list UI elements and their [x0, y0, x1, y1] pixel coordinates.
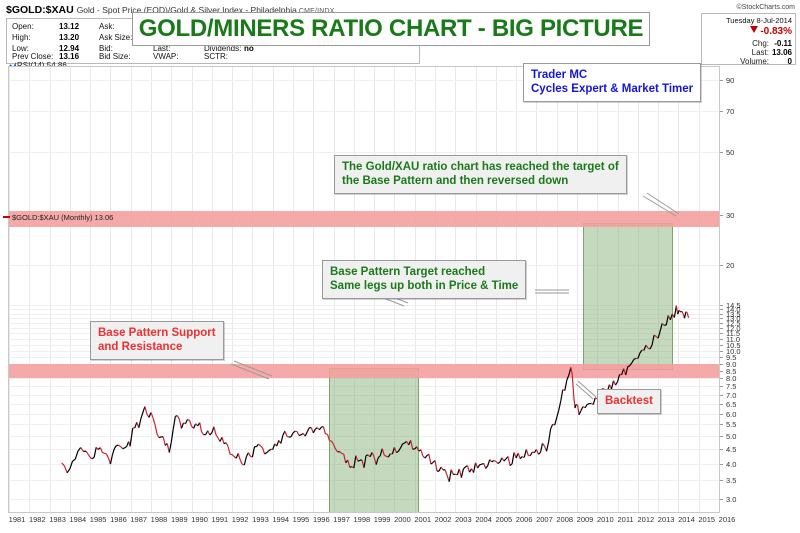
price-segment	[530, 452, 532, 456]
price-segment	[632, 359, 634, 363]
price-segment	[449, 470, 451, 482]
x-axis-tick-label: 2007	[536, 515, 553, 524]
y-axis-tick-mark	[720, 364, 723, 365]
quote-label-prev-close: Prev Close:	[12, 52, 53, 61]
price-segment	[62, 463, 65, 466]
price-segment	[421, 450, 423, 456]
price-segment	[364, 456, 366, 468]
price-segment	[194, 424, 196, 429]
price-segment	[67, 469, 70, 473]
price-segment	[240, 460, 242, 464]
price-segment	[102, 452, 104, 453]
price-segment	[94, 447, 96, 457]
price-segment	[110, 455, 112, 464]
price-tag-label: $GOLD:$XAU (Monthly) 13.06	[1, 213, 113, 223]
quote-label-vwap: VWAP:	[153, 52, 178, 61]
price-segment	[305, 432, 307, 436]
price-segment	[676, 306, 677, 315]
y-axis-tick-mark	[720, 339, 723, 340]
price-segment	[644, 345, 646, 350]
callout-line: The Gold/XAU ratio chart has reached the…	[342, 160, 619, 174]
y-axis-tick-mark	[720, 480, 723, 481]
price-segment	[478, 465, 480, 468]
price-segment	[248, 453, 250, 457]
price-segment	[461, 469, 463, 478]
last-label: Last:	[752, 48, 769, 57]
price-segment	[252, 447, 254, 457]
price-segment	[396, 451, 398, 452]
price-segment	[510, 464, 512, 466]
x-axis-tick-label: 1985	[90, 515, 107, 524]
x-axis-tick-label: 1984	[70, 515, 87, 524]
price-segment	[372, 452, 374, 457]
price-segment	[571, 367, 572, 374]
price-segment	[474, 463, 476, 473]
y-axis-tick-label: 30	[726, 211, 734, 220]
y-axis-tick-mark	[720, 436, 723, 437]
down-arrow-icon	[750, 26, 758, 33]
price-segment	[578, 405, 579, 415]
y-axis-tick-mark	[720, 80, 723, 81]
price-segment	[512, 452, 514, 463]
x-axis-tick-label: 2000	[394, 515, 411, 524]
callout-line: Cycles Expert & Market Timer	[531, 82, 693, 96]
price-segment	[238, 453, 240, 460]
x-axis-tick-label: 1998	[354, 515, 371, 524]
y-axis-tick-mark	[720, 265, 723, 266]
price-segment	[171, 429, 173, 443]
price-segment	[526, 449, 528, 455]
price-segment	[492, 461, 494, 462]
price-segment	[565, 380, 567, 391]
chart-title-banner: GOLD/MINERS RATIO CHART - BIG PICTURE	[132, 12, 650, 46]
x-axis-tick-label: 1992	[232, 515, 249, 524]
y-axis-tick-label: 70	[726, 107, 734, 116]
price-segment	[114, 446, 116, 449]
price-segment	[686, 312, 687, 313]
price-segment	[232, 455, 234, 457]
price-segment	[616, 382, 618, 385]
callout-target-reached: The Gold/XAU ratio chart has reached the…	[334, 155, 627, 194]
x-axis-tick-label: 1995	[293, 515, 310, 524]
price-segment	[561, 390, 563, 401]
y-axis-tick-mark	[720, 323, 723, 324]
callout-base-pattern-target: Base Pattern Target reached Same legs up…	[322, 260, 526, 299]
price-segment	[70, 461, 73, 469]
price-segment	[685, 312, 686, 318]
quote-label-high: High:	[12, 33, 31, 42]
price-segment	[384, 455, 386, 456]
x-axis-tick-label: 1986	[110, 515, 127, 524]
price-segment	[679, 310, 680, 312]
quote-date: Tuesday 8-Jul-2014	[726, 16, 792, 25]
price-segment	[585, 404, 587, 407]
price-segment	[208, 431, 210, 435]
price-segment	[73, 459, 76, 461]
price-segment	[618, 374, 620, 381]
price-segment	[153, 418, 155, 425]
y-axis-tick-mark	[720, 152, 723, 153]
price-segment	[336, 449, 338, 452]
callout-line: the Base Pattern and then reversed down	[342, 174, 619, 188]
price-segment	[611, 381, 613, 389]
quote-value-high: 13.20	[59, 33, 79, 42]
price-segment	[549, 429, 551, 442]
price-segment	[394, 447, 396, 452]
price-segment	[411, 440, 413, 449]
chg-label: Chg:	[752, 39, 769, 48]
price-segment	[293, 431, 295, 433]
price-segment	[139, 419, 141, 428]
price-segment	[354, 456, 356, 468]
x-axis-tick-label: 2016	[719, 515, 736, 524]
x-axis-tick-label: 2001	[414, 515, 431, 524]
y-axis-tick-mark	[720, 395, 723, 396]
quote-label-sctr: SCTR:	[204, 52, 228, 61]
price-segment	[342, 453, 344, 454]
y-axis-tick-mark	[720, 314, 723, 315]
y-axis-tick-mark	[720, 378, 723, 379]
y-axis-tick-mark	[720, 345, 723, 346]
series-swatch-icon	[3, 216, 10, 218]
y-axis-tick-label: 6.0	[726, 410, 736, 419]
y-axis-tick-mark	[720, 386, 723, 387]
price-segment	[514, 452, 516, 458]
price-segment	[650, 345, 652, 349]
price-segment	[572, 375, 573, 395]
price-segment	[350, 467, 352, 468]
price-segment	[340, 452, 342, 454]
x-axis-tick-label: 1981	[9, 515, 26, 524]
price-segment	[112, 448, 114, 454]
price-segment	[273, 444, 275, 450]
y-axis-tick-mark	[720, 357, 723, 358]
price-segment	[630, 363, 632, 366]
price-segment	[652, 335, 654, 345]
percent-change-value: -0.83%	[760, 26, 792, 37]
y-axis-tick-label: 90	[726, 76, 734, 85]
x-axis-tick-label: 2011	[617, 515, 633, 524]
price-segment	[425, 456, 427, 459]
price-segment	[287, 436, 289, 437]
volume-value: 0	[788, 57, 792, 66]
y-axis: 907050302014.514.013.513.012.512.011.511…	[720, 66, 798, 513]
price-segment	[445, 470, 447, 476]
price-segment	[348, 460, 350, 467]
y-axis-tick-mark	[720, 449, 723, 450]
x-axis-tick-label: 2015	[698, 515, 715, 524]
price-segment	[557, 410, 559, 417]
price-segment	[281, 435, 283, 443]
y-axis-tick-mark	[720, 305, 723, 306]
x-axis-tick-label: 1993	[252, 515, 269, 524]
x-axis-tick-label: 2003	[455, 515, 472, 524]
price-segment	[319, 427, 321, 430]
price-segment	[222, 437, 224, 444]
price-segment	[518, 453, 520, 458]
price-segment	[297, 432, 299, 436]
price-segment	[285, 431, 287, 436]
price-segment	[551, 424, 553, 429]
price-segment	[579, 410, 581, 415]
callout-line: Backtest	[605, 394, 653, 408]
last-value: 13.06	[772, 48, 792, 57]
callout-base-pattern-support: Base Pattern Support and Resistance	[90, 321, 224, 360]
price-segment	[151, 412, 153, 417]
x-axis-tick-label: 2014	[678, 515, 695, 524]
price-segment	[463, 467, 465, 469]
price-segment	[90, 457, 92, 459]
price-segment	[670, 314, 672, 320]
y-axis-tick-mark	[720, 111, 723, 112]
price-segment	[131, 428, 132, 437]
price-segment	[634, 358, 636, 359]
price-segment	[64, 466, 67, 473]
price-segment	[259, 444, 261, 446]
x-axis-tick-label: 2012	[638, 515, 655, 524]
x-axis-tick-label: 2005	[496, 515, 513, 524]
price-segment	[388, 454, 390, 457]
price-segment	[145, 407, 147, 414]
price-segment	[451, 470, 453, 475]
y-axis-tick-label: 5.5	[726, 420, 736, 429]
price-segment	[662, 323, 664, 325]
x-axis-tick-label: 2002	[435, 515, 452, 524]
x-axis-tick-label: 1988	[151, 515, 168, 524]
price-segment	[261, 446, 263, 448]
price-segment	[682, 311, 683, 313]
price-segment	[121, 446, 123, 448]
x-axis-tick-label: 1994	[272, 515, 289, 524]
price-segment	[277, 440, 279, 446]
price-segment	[210, 433, 212, 435]
price-segment	[581, 407, 583, 411]
price-segment	[125, 447, 127, 448]
x-axis-tick-label: 2008	[556, 515, 573, 524]
price-segment	[417, 447, 419, 451]
volume-label: Volume:	[740, 57, 769, 66]
price-segment	[123, 448, 125, 449]
price-segment	[311, 428, 313, 433]
price-segment	[687, 313, 688, 318]
x-axis-tick-label: 1996	[313, 515, 330, 524]
price-segment	[299, 435, 301, 436]
y-axis-tick-mark	[720, 414, 723, 415]
price-segment	[467, 466, 469, 473]
callout-line: and Resistance	[98, 340, 216, 354]
y-axis-tick-label: 4.5	[726, 445, 736, 454]
price-segment	[334, 444, 336, 449]
callout-line: Trader MC	[531, 68, 693, 82]
y-axis-tick-mark	[720, 328, 723, 329]
price-segment	[106, 454, 108, 458]
price-segment	[486, 466, 488, 469]
callout-line: Base Pattern Target reached	[330, 265, 518, 279]
y-axis-tick-mark	[720, 464, 723, 465]
x-axis-tick-label: 1990	[191, 515, 208, 524]
price-segment	[520, 457, 522, 459]
y-axis-tick-label: 6.5	[726, 400, 736, 409]
x-axis-tick-label: 1983	[49, 515, 66, 524]
x-axis-tick-label: 1982	[29, 515, 46, 524]
price-segment	[226, 443, 228, 447]
price-segment	[498, 462, 500, 463]
price-segment	[269, 449, 271, 451]
price-segment	[315, 428, 317, 430]
price-segment	[484, 463, 486, 468]
price-segment	[398, 448, 400, 451]
price-segment	[104, 453, 106, 454]
percent-change: -0.83%	[750, 26, 792, 37]
price-segment	[214, 427, 216, 435]
price-segment	[163, 437, 165, 446]
y-axis-tick-mark	[720, 404, 723, 405]
quote-label-bid-size: Bid Size:	[99, 52, 131, 61]
price-segment	[626, 367, 628, 375]
price-segment	[640, 350, 642, 353]
y-axis-tick-mark	[720, 318, 723, 319]
y-axis-tick-label: 3.0	[726, 495, 736, 504]
price-segment	[490, 460, 492, 462]
price-segment	[476, 463, 478, 468]
x-axis-tick-label: 1987	[130, 515, 147, 524]
y-axis-tick-mark	[720, 309, 723, 310]
x-axis-tick-label: 2004	[475, 515, 492, 524]
price-segment	[646, 345, 648, 348]
price-segment	[155, 425, 157, 434]
price-segment	[524, 449, 526, 457]
price-segment	[504, 459, 506, 461]
callout-backtest: Backtest	[597, 389, 661, 414]
price-segment	[100, 448, 102, 453]
price-segment	[628, 366, 630, 367]
copyright-label: ©StockCharts.com	[737, 4, 795, 11]
price-segment	[496, 461, 498, 463]
price-segment	[540, 443, 542, 452]
x-axis-tick-label: 1989	[171, 515, 188, 524]
price-segment	[374, 457, 376, 464]
symbol-ticker[interactable]: $GOLD:$XAU	[6, 4, 74, 16]
price-segment	[378, 456, 380, 458]
price-segment	[376, 458, 378, 465]
price-segment	[200, 423, 202, 433]
y-axis-tick-label: 20	[726, 261, 734, 270]
price-segment	[157, 434, 159, 438]
price-segment	[265, 453, 267, 454]
price-segment	[263, 448, 265, 454]
quote-label-ask: Ask:	[99, 22, 115, 31]
price-segment	[356, 456, 358, 462]
price-segment	[332, 441, 334, 444]
quote-value-open: 13.12	[59, 22, 79, 31]
price-segment	[403, 443, 405, 444]
y-axis-tick-mark	[720, 499, 723, 500]
price-segment	[658, 331, 660, 338]
stockcharts-screenshot: $GOLD:$XAUGold - Spot Price (EOD)/Gold &…	[0, 0, 800, 533]
x-axis-tick-label: 2006	[516, 515, 533, 524]
price-segment	[587, 404, 589, 405]
price-segment	[244, 457, 246, 465]
callout-trader-mc: Trader MC Cycles Expert & Market Timer	[523, 63, 701, 102]
price-segment	[559, 401, 561, 410]
price-segment	[307, 428, 309, 432]
price-segment	[330, 441, 332, 442]
price-segment	[169, 442, 171, 452]
price-segment	[141, 412, 143, 418]
price-segment	[380, 449, 382, 456]
price-segment	[173, 416, 175, 428]
y-axis-tick-mark	[720, 424, 723, 425]
price-segment	[593, 398, 595, 405]
x-axis-tick-label: 1991	[212, 515, 229, 524]
y-axis-tick-label: 4.0	[726, 460, 736, 469]
x-axis-tick-label: 1999	[374, 515, 391, 524]
price-segment	[323, 427, 325, 434]
price-segment	[228, 446, 230, 454]
price-segment	[543, 443, 545, 446]
y-axis-tick-label: 50	[726, 148, 734, 157]
price-segment	[88, 454, 90, 457]
quote-value-prev-close: 13.16	[59, 52, 79, 61]
price-segment	[508, 456, 510, 465]
price-segment	[188, 419, 190, 420]
price-segment	[536, 449, 538, 454]
x-axis-tick-label: 1997	[333, 515, 350, 524]
price-segment	[666, 315, 668, 325]
price-segment	[547, 442, 549, 451]
price-segment	[494, 461, 496, 462]
price-segment	[435, 461, 437, 472]
y-axis-tick-label: 5.0	[726, 432, 736, 441]
y-axis-tick-label: 7.0	[726, 391, 736, 400]
price-segment	[130, 437, 131, 446]
price-segment	[638, 353, 640, 358]
price-segment	[401, 444, 403, 448]
price-segment	[567, 375, 569, 380]
price-segment	[538, 452, 540, 454]
price-segment	[327, 434, 329, 440]
y-axis-tick-mark	[720, 333, 723, 334]
price-segment	[555, 418, 557, 425]
price-segment	[177, 416, 179, 420]
price-segment	[75, 451, 78, 459]
price-segment	[344, 454, 346, 463]
x-axis-tick-label: 2010	[597, 515, 614, 524]
price-segment	[216, 435, 218, 438]
price-segment	[291, 433, 293, 437]
price-segment	[159, 437, 161, 438]
y-axis-tick-mark	[720, 215, 723, 216]
price-segment	[119, 445, 121, 446]
price-segment	[267, 451, 269, 453]
price-segment	[429, 454, 431, 464]
price-segment	[179, 419, 181, 428]
price-segment	[382, 449, 384, 456]
quote-label-ask-size: Ask Size:	[99, 33, 132, 42]
price-segment	[78, 447, 81, 451]
x-axis-tick-label: 2009	[577, 515, 594, 524]
price-segment	[500, 458, 502, 462]
y-axis-tick-label: 3.5	[726, 476, 736, 485]
price-segment	[358, 460, 360, 461]
x-axis: 1981198219831984198519861987198819891990…	[8, 513, 798, 531]
price-segment	[574, 395, 575, 409]
y-axis-tick-mark	[720, 351, 723, 352]
price-segment	[202, 432, 204, 434]
callout-line: Base Pattern Support	[98, 326, 216, 340]
price-segment	[392, 447, 394, 454]
last-quote-panel: Tuesday 8-Jul-2014 -0.83% Chg: -0.11 Las…	[701, 13, 796, 65]
